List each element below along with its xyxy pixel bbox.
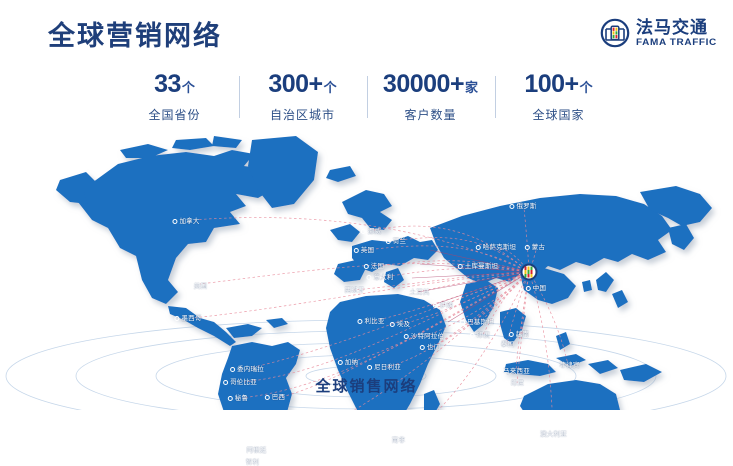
stat-countries: 100+ 个 全球国家 bbox=[495, 72, 623, 123]
stat-label: 客户数量 bbox=[367, 106, 495, 123]
slide-root: 全球营销网络 法马交通 FAMA TRAFFIC 33 个 bbox=[0, 0, 733, 410]
map-label-dot bbox=[533, 432, 538, 437]
map-label-dot bbox=[239, 448, 244, 453]
logo-cn-name: 法马交通 bbox=[636, 19, 713, 36]
stat-value-group: 300+ 个 bbox=[239, 72, 367, 97]
map-label-text: 智利 bbox=[246, 459, 259, 466]
company-logo: 法马交通 FAMA TRAFFIC bbox=[600, 18, 713, 48]
map-label: 澳大利亚 bbox=[533, 428, 567, 438]
map-label: 南非 bbox=[385, 434, 405, 444]
stat-cities: 300+ 个 自治区城市 bbox=[239, 72, 367, 123]
stat-value-group: 100+ 个 bbox=[495, 72, 623, 97]
stat-label: 全球国家 bbox=[495, 106, 623, 123]
stat-value: 30000+ bbox=[383, 72, 464, 97]
stat-label: 自治区城市 bbox=[239, 106, 367, 123]
map-label: 智利 bbox=[239, 456, 259, 466]
stat-unit: 家 bbox=[465, 81, 478, 94]
logo-en-name: FAMA TRAFFIC bbox=[636, 38, 717, 48]
landmasses bbox=[56, 136, 712, 410]
world-map-svg bbox=[0, 132, 733, 410]
stat-value: 100+ bbox=[524, 72, 578, 97]
map-label-text: 澳大利亚 bbox=[540, 431, 567, 438]
stat-unit: 个 bbox=[324, 81, 337, 94]
stat-value: 33 bbox=[154, 72, 181, 97]
stat-value-group: 30000+ 家 bbox=[367, 72, 495, 97]
stat-unit: 个 bbox=[182, 81, 195, 94]
world-map: 加拿大美国墨西哥委内瑞拉哥伦比亚秘鲁巴西阿根廷智利挪威荷兰英国法国意大利西班牙土… bbox=[0, 132, 733, 410]
map-label-text: 阿根廷 bbox=[246, 447, 266, 454]
map-label-dot bbox=[239, 460, 244, 465]
stat-provinces: 33 个 全国省份 bbox=[111, 72, 239, 123]
map-caption: 全球销售网络 bbox=[0, 375, 733, 396]
fama-hub-marker-icon[interactable] bbox=[521, 264, 538, 281]
stat-value: 300+ bbox=[268, 72, 322, 97]
hub-traffic-bars bbox=[525, 267, 534, 278]
map-label: 阿根廷 bbox=[239, 444, 266, 454]
stat-value-group: 33 个 bbox=[111, 72, 239, 97]
fama-circle-logo-icon bbox=[600, 18, 630, 48]
stats-row: 33 个 全国省份 300+ 个 自治区城市 30000+ 家 客户数量 100… bbox=[0, 72, 733, 130]
stat-label: 全国省份 bbox=[111, 106, 239, 123]
map-label-text: 南非 bbox=[392, 437, 405, 444]
stat-unit: 个 bbox=[580, 81, 593, 94]
page-title: 全球营销网络 bbox=[48, 14, 222, 53]
map-label-dot bbox=[385, 438, 390, 443]
stat-customers: 30000+ 家 客户数量 bbox=[367, 72, 495, 123]
